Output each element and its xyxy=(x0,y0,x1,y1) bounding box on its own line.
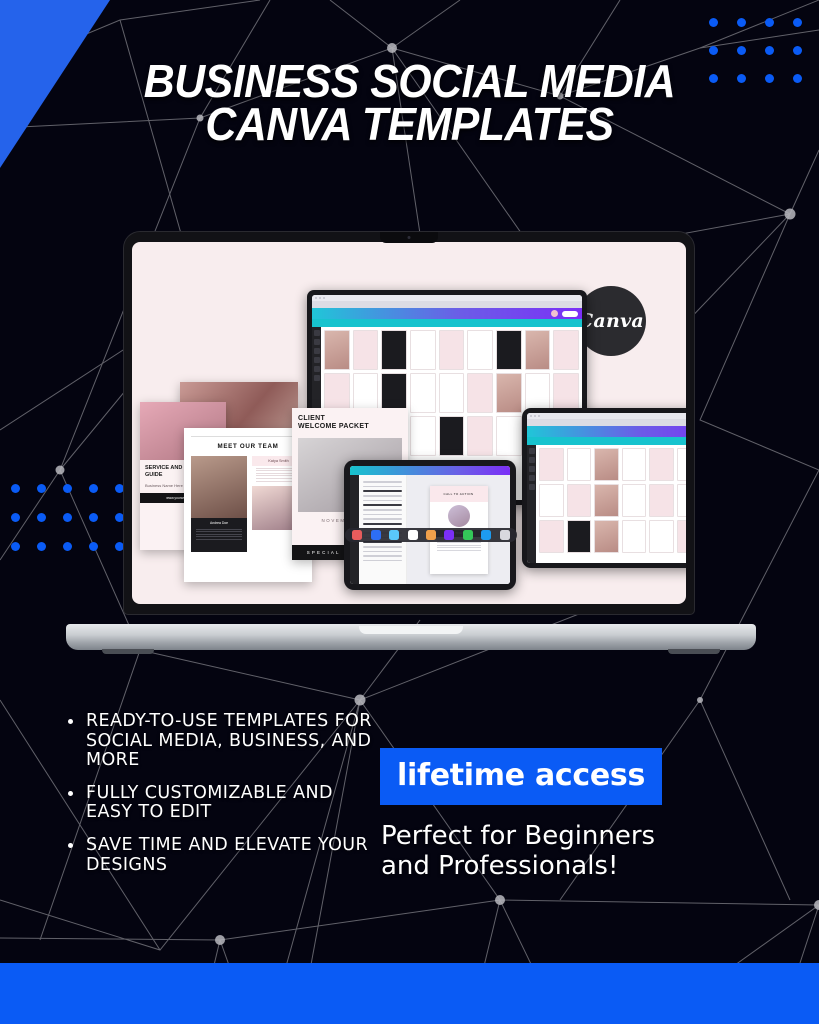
dot xyxy=(709,18,718,27)
template-tile[interactable] xyxy=(439,373,465,413)
dock-icon-safari[interactable] xyxy=(371,530,381,540)
template-tile[interactable] xyxy=(410,416,436,456)
template-tile[interactable] xyxy=(594,448,619,481)
template-tile[interactable] xyxy=(353,330,379,370)
template-tile[interactable] xyxy=(649,520,674,553)
team-card-row: Andrea Doe Katya Smith xyxy=(191,456,305,552)
dot xyxy=(793,18,802,27)
inner-device-tablet xyxy=(522,408,686,568)
app-subbar xyxy=(312,319,582,327)
template-tile[interactable] xyxy=(567,448,592,481)
poster-headline: BUSINESS SOCIAL MEDIA CANVA TEMPLATES xyxy=(29,60,791,146)
dock-icon-messages[interactable] xyxy=(463,530,473,540)
dot xyxy=(793,74,802,83)
canva-logo-text: Canva xyxy=(578,310,644,332)
template-tile[interactable] xyxy=(439,330,465,370)
template-tile[interactable] xyxy=(553,373,579,413)
dock-icon-notes[interactable] xyxy=(426,530,436,540)
app-body xyxy=(527,445,686,563)
template-tile[interactable] xyxy=(567,520,592,553)
template-tile[interactable] xyxy=(324,373,350,413)
app-titlebar xyxy=(527,413,686,419)
template-tile[interactable] xyxy=(677,484,686,517)
template-tile[interactable] xyxy=(410,373,436,413)
template-tile[interactable] xyxy=(594,484,619,517)
editor-page-image xyxy=(448,505,470,527)
dot xyxy=(37,513,46,522)
laptop-screen: Canva xyxy=(132,242,686,604)
template-tile[interactable] xyxy=(594,520,619,553)
template-tile[interactable] xyxy=(677,520,686,553)
template-tile[interactable] xyxy=(381,330,407,370)
poster-canvas: BUSINESS SOCIAL MEDIA CANVA TEMPLATES Ca… xyxy=(0,0,819,1024)
canva-editor: CALL TO ACTION CALL TO ACTION xyxy=(350,466,510,584)
team-card-title: MEET OUR TEAM xyxy=(191,436,305,450)
template-tile[interactable] xyxy=(525,330,551,370)
feature-list: READY-TO-USE TEMPLATES FOR SOCIAL MEDIA,… xyxy=(62,712,382,888)
template-tile[interactable] xyxy=(467,330,493,370)
dot xyxy=(11,513,20,522)
feature-item-2: FULLY CUSTOMIZABLE AND EASY TO EDIT xyxy=(62,784,382,823)
template-tile[interactable] xyxy=(381,373,407,413)
laptop-foot xyxy=(102,649,154,654)
template-tile[interactable] xyxy=(567,484,592,517)
laptop-lid: Canva xyxy=(124,232,694,614)
template-tile[interactable] xyxy=(353,373,379,413)
share-button[interactable] xyxy=(562,311,578,317)
dot xyxy=(765,18,774,27)
avatar xyxy=(551,310,558,317)
template-tile[interactable] xyxy=(539,448,564,481)
dock-icon-trash[interactable] xyxy=(500,530,510,540)
template-tile[interactable] xyxy=(324,330,350,370)
inner-device-ipad: CALL TO ACTION CALL TO ACTION xyxy=(344,460,516,590)
team-member-block-1: Andrea Doe xyxy=(191,456,247,552)
feature-item-1: READY-TO-USE TEMPLATES FOR SOCIAL MEDIA,… xyxy=(62,712,382,771)
template-tile[interactable] xyxy=(649,484,674,517)
editor-topbar xyxy=(350,466,510,475)
app-titlebar xyxy=(312,295,582,301)
template-tile[interactable] xyxy=(496,330,522,370)
lifetime-access-badge: lifetime access xyxy=(380,748,662,805)
dot xyxy=(37,542,46,551)
laptop-foot xyxy=(668,649,720,654)
laptop-base xyxy=(66,624,756,650)
template-tile[interactable] xyxy=(649,448,674,481)
template-tile[interactable] xyxy=(496,416,522,456)
dot xyxy=(11,484,20,493)
template-tile[interactable] xyxy=(622,448,647,481)
dot xyxy=(737,46,746,55)
dock-icon-photos[interactable] xyxy=(408,530,418,540)
template-tile[interactable] xyxy=(525,373,551,413)
template-tile[interactable] xyxy=(467,416,493,456)
dot xyxy=(709,46,718,55)
promo-subtitle: Perfect for Beginners and Professionals! xyxy=(381,822,761,881)
template-tile[interactable] xyxy=(622,520,647,553)
template-tile[interactable] xyxy=(539,520,564,553)
dot xyxy=(11,542,20,551)
member-photo xyxy=(191,456,247,518)
ipad-viewport: CALL TO ACTION CALL TO ACTION xyxy=(350,466,510,584)
app-topbar xyxy=(527,426,686,437)
dock-icon-finder[interactable] xyxy=(352,530,362,540)
dot xyxy=(765,46,774,55)
webcam-notch xyxy=(380,232,438,243)
bottom-blue-bar xyxy=(0,963,819,1024)
template-tile[interactable] xyxy=(496,373,522,413)
editor-page-title: CALL TO ACTION xyxy=(430,486,488,502)
team-member-name-1: Andrea Doe xyxy=(191,518,247,527)
app-subbar xyxy=(527,437,686,445)
template-tile[interactable] xyxy=(410,330,436,370)
app-tabs xyxy=(527,419,686,426)
template-tile[interactable] xyxy=(677,448,686,481)
dot xyxy=(737,18,746,27)
app-topbar xyxy=(312,308,582,319)
app-sidebar-rail[interactable] xyxy=(527,445,536,563)
laptop-mockup: Canva xyxy=(66,232,756,650)
template-tile[interactable] xyxy=(439,416,465,456)
dock-icon-settings[interactable] xyxy=(481,530,491,540)
template-tile[interactable] xyxy=(539,484,564,517)
dot xyxy=(793,46,802,55)
dock-icon-canva[interactable] xyxy=(444,530,454,540)
dot xyxy=(37,484,46,493)
app-tabs xyxy=(312,301,582,308)
template-tile[interactable] xyxy=(467,373,493,413)
macos-dock[interactable] xyxy=(345,528,517,542)
client-card-title: CLIENT WELCOME PACKET xyxy=(298,415,402,431)
template-tile[interactable] xyxy=(553,330,579,370)
template-grid[interactable] xyxy=(536,445,686,563)
template-tile[interactable] xyxy=(622,484,647,517)
tablet-viewport xyxy=(527,413,686,563)
feature-item-3: SAVE TIME AND ELEVATE YOUR DESIGNS xyxy=(62,836,382,875)
dock-icon-mail[interactable] xyxy=(389,530,399,540)
